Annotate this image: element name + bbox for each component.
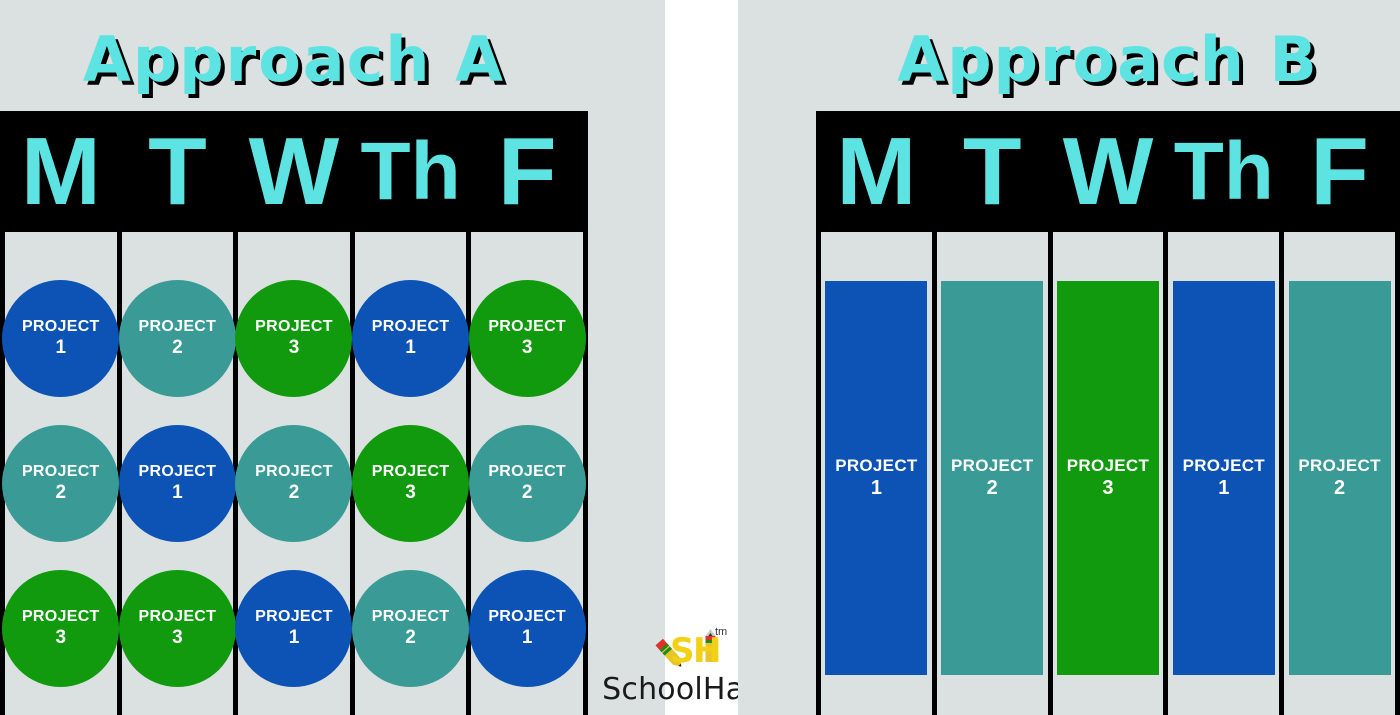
project-circle[interactable]: PROJECT 1 bbox=[2, 280, 119, 397]
day-header-monday-a: M bbox=[5, 111, 117, 232]
project-circle[interactable]: PROJECT 3 bbox=[352, 425, 469, 542]
project-label: PROJECT bbox=[22, 463, 100, 482]
svg-text:S: S bbox=[670, 631, 695, 671]
schoolhabits-logo: S H tm SchoolHabits bbox=[665, 624, 738, 707]
day-header-thursday-b: Th bbox=[1168, 111, 1279, 232]
day-header-friday-b: F bbox=[1284, 111, 1395, 232]
day-body-monday-a: PROJECT 1 PROJECT 2 PROJECT 3 bbox=[5, 232, 117, 715]
project-number: 3 bbox=[522, 337, 533, 359]
project-number: 3 bbox=[1102, 476, 1113, 500]
center-divider-gap bbox=[665, 0, 738, 715]
project-label: PROJECT bbox=[372, 318, 450, 337]
approach-a-title: Approach A bbox=[0, 16, 588, 104]
project-number: 2 bbox=[1334, 476, 1345, 500]
project-circle[interactable]: PROJECT 2 bbox=[2, 425, 119, 542]
project-number: 3 bbox=[172, 627, 183, 649]
project-number: 1 bbox=[405, 337, 416, 359]
project-label: PROJECT bbox=[22, 318, 100, 337]
project-circle[interactable]: PROJECT 2 bbox=[352, 570, 469, 687]
project-label: PROJECT bbox=[1183, 456, 1265, 476]
day-body-wednesday-b: PROJECT 3 bbox=[1053, 232, 1164, 715]
project-bar[interactable]: PROJECT 2 bbox=[1289, 281, 1391, 675]
day-body-tuesday-b: PROJECT 2 bbox=[937, 232, 1048, 715]
day-header-wednesday-b: W bbox=[1053, 111, 1164, 232]
project-bar[interactable]: PROJECT 1 bbox=[1173, 281, 1275, 675]
project-number: 2 bbox=[522, 482, 533, 504]
day-body-monday-b: PROJECT 1 bbox=[821, 232, 932, 715]
project-label: PROJECT bbox=[1067, 456, 1149, 476]
project-number: 3 bbox=[405, 482, 416, 504]
project-label: PROJECT bbox=[255, 318, 333, 337]
project-circle[interactable]: PROJECT 1 bbox=[469, 570, 586, 687]
project-circle[interactable]: PROJECT 3 bbox=[119, 570, 236, 687]
day-column-wednesday-a: W PROJECT 3 PROJECT 2 PROJECT 1 bbox=[238, 111, 355, 715]
project-number: 1 bbox=[289, 627, 300, 649]
project-label: PROJECT bbox=[139, 318, 217, 337]
project-number: 2 bbox=[172, 337, 183, 359]
project-label: PROJECT bbox=[835, 456, 917, 476]
day-header-wednesday-a: W bbox=[238, 111, 350, 232]
day-body-wednesday-a: PROJECT 3 PROJECT 2 PROJECT 1 bbox=[238, 232, 350, 715]
project-label: PROJECT bbox=[951, 456, 1033, 476]
project-label: PROJECT bbox=[22, 608, 100, 627]
day-column-friday-a: F PROJECT 3 PROJECT 2 PROJECT 1 bbox=[471, 111, 583, 715]
project-label: PROJECT bbox=[139, 463, 217, 482]
day-body-thursday-b: PROJECT 1 bbox=[1168, 232, 1279, 715]
day-column-tuesday-a: T PROJECT 2 PROJECT 1 PROJECT 3 bbox=[122, 111, 239, 715]
project-label: PROJECT bbox=[488, 463, 566, 482]
project-circle[interactable]: PROJECT 3 bbox=[235, 280, 352, 397]
project-number: 2 bbox=[56, 482, 67, 504]
project-circle[interactable]: PROJECT 2 bbox=[235, 425, 352, 542]
comparison-infographic: Approach A M PROJECT 1 PROJECT 2 PROJECT… bbox=[0, 0, 1400, 715]
project-label: PROJECT bbox=[255, 608, 333, 627]
day-column-thursday-a: Th PROJECT 1 PROJECT 3 PROJECT 2 bbox=[355, 111, 472, 715]
day-body-tuesday-a: PROJECT 2 PROJECT 1 PROJECT 3 bbox=[122, 232, 234, 715]
day-column-friday-b: F PROJECT 2 bbox=[1284, 111, 1395, 715]
project-number: 3 bbox=[56, 627, 67, 649]
logo-mark: S H tm bbox=[652, 624, 752, 672]
day-body-thursday-a: PROJECT 1 PROJECT 3 PROJECT 2 bbox=[355, 232, 467, 715]
project-number: 1 bbox=[522, 627, 533, 649]
project-circle[interactable]: PROJECT 2 bbox=[469, 425, 586, 542]
project-bar[interactable]: PROJECT 3 bbox=[1057, 281, 1159, 675]
approach-b-schedule-table: M PROJECT 1 T PROJECT 2 W bbox=[816, 111, 1400, 715]
project-label: PROJECT bbox=[372, 608, 450, 627]
day-header-thursday-a: Th bbox=[355, 111, 467, 232]
project-label: PROJECT bbox=[488, 608, 566, 627]
project-number: 1 bbox=[56, 337, 67, 359]
project-circle[interactable]: PROJECT 1 bbox=[352, 280, 469, 397]
approach-b-title: Approach B bbox=[816, 16, 1400, 104]
project-number: 1 bbox=[871, 476, 882, 500]
project-label: PROJECT bbox=[255, 463, 333, 482]
project-label: PROJECT bbox=[488, 318, 566, 337]
project-label: PROJECT bbox=[372, 463, 450, 482]
day-column-thursday-b: Th PROJECT 1 bbox=[1168, 111, 1284, 715]
day-column-monday-a: M PROJECT 1 PROJECT 2 PROJECT 3 bbox=[5, 111, 122, 715]
day-header-monday-b: M bbox=[821, 111, 932, 232]
project-circle[interactable]: PROJECT 1 bbox=[119, 425, 236, 542]
day-header-tuesday-b: T bbox=[937, 111, 1048, 232]
project-number: 2 bbox=[405, 627, 416, 649]
approach-a-schedule-table: M PROJECT 1 PROJECT 2 PROJECT 3 T bbox=[0, 111, 588, 715]
day-body-friday-a: PROJECT 3 PROJECT 2 PROJECT 1 bbox=[471, 232, 583, 715]
project-number: 1 bbox=[172, 482, 183, 504]
project-label: PROJECT bbox=[139, 608, 217, 627]
day-column-monday-b: M PROJECT 1 bbox=[821, 111, 937, 715]
project-bar[interactable]: PROJECT 2 bbox=[941, 281, 1043, 675]
sh-monogram-icon: S H bbox=[652, 624, 752, 672]
project-number: 1 bbox=[1218, 476, 1229, 500]
project-circle[interactable]: PROJECT 1 bbox=[235, 570, 352, 687]
day-column-tuesday-b: T PROJECT 2 bbox=[937, 111, 1053, 715]
day-header-tuesday-a: T bbox=[122, 111, 234, 232]
day-header-friday-a: F bbox=[471, 111, 583, 232]
project-number: 2 bbox=[289, 482, 300, 504]
day-column-wednesday-b: W PROJECT 3 bbox=[1053, 111, 1169, 715]
project-circle[interactable]: PROJECT 3 bbox=[469, 280, 586, 397]
trademark-symbol: tm bbox=[715, 626, 727, 638]
project-circle[interactable]: PROJECT 3 bbox=[2, 570, 119, 687]
project-label: PROJECT bbox=[1298, 456, 1380, 476]
project-circle[interactable]: PROJECT 2 bbox=[119, 280, 236, 397]
project-number: 3 bbox=[289, 337, 300, 359]
project-bar[interactable]: PROJECT 1 bbox=[825, 281, 927, 675]
day-body-friday-b: PROJECT 2 bbox=[1284, 232, 1395, 715]
project-number: 2 bbox=[987, 476, 998, 500]
